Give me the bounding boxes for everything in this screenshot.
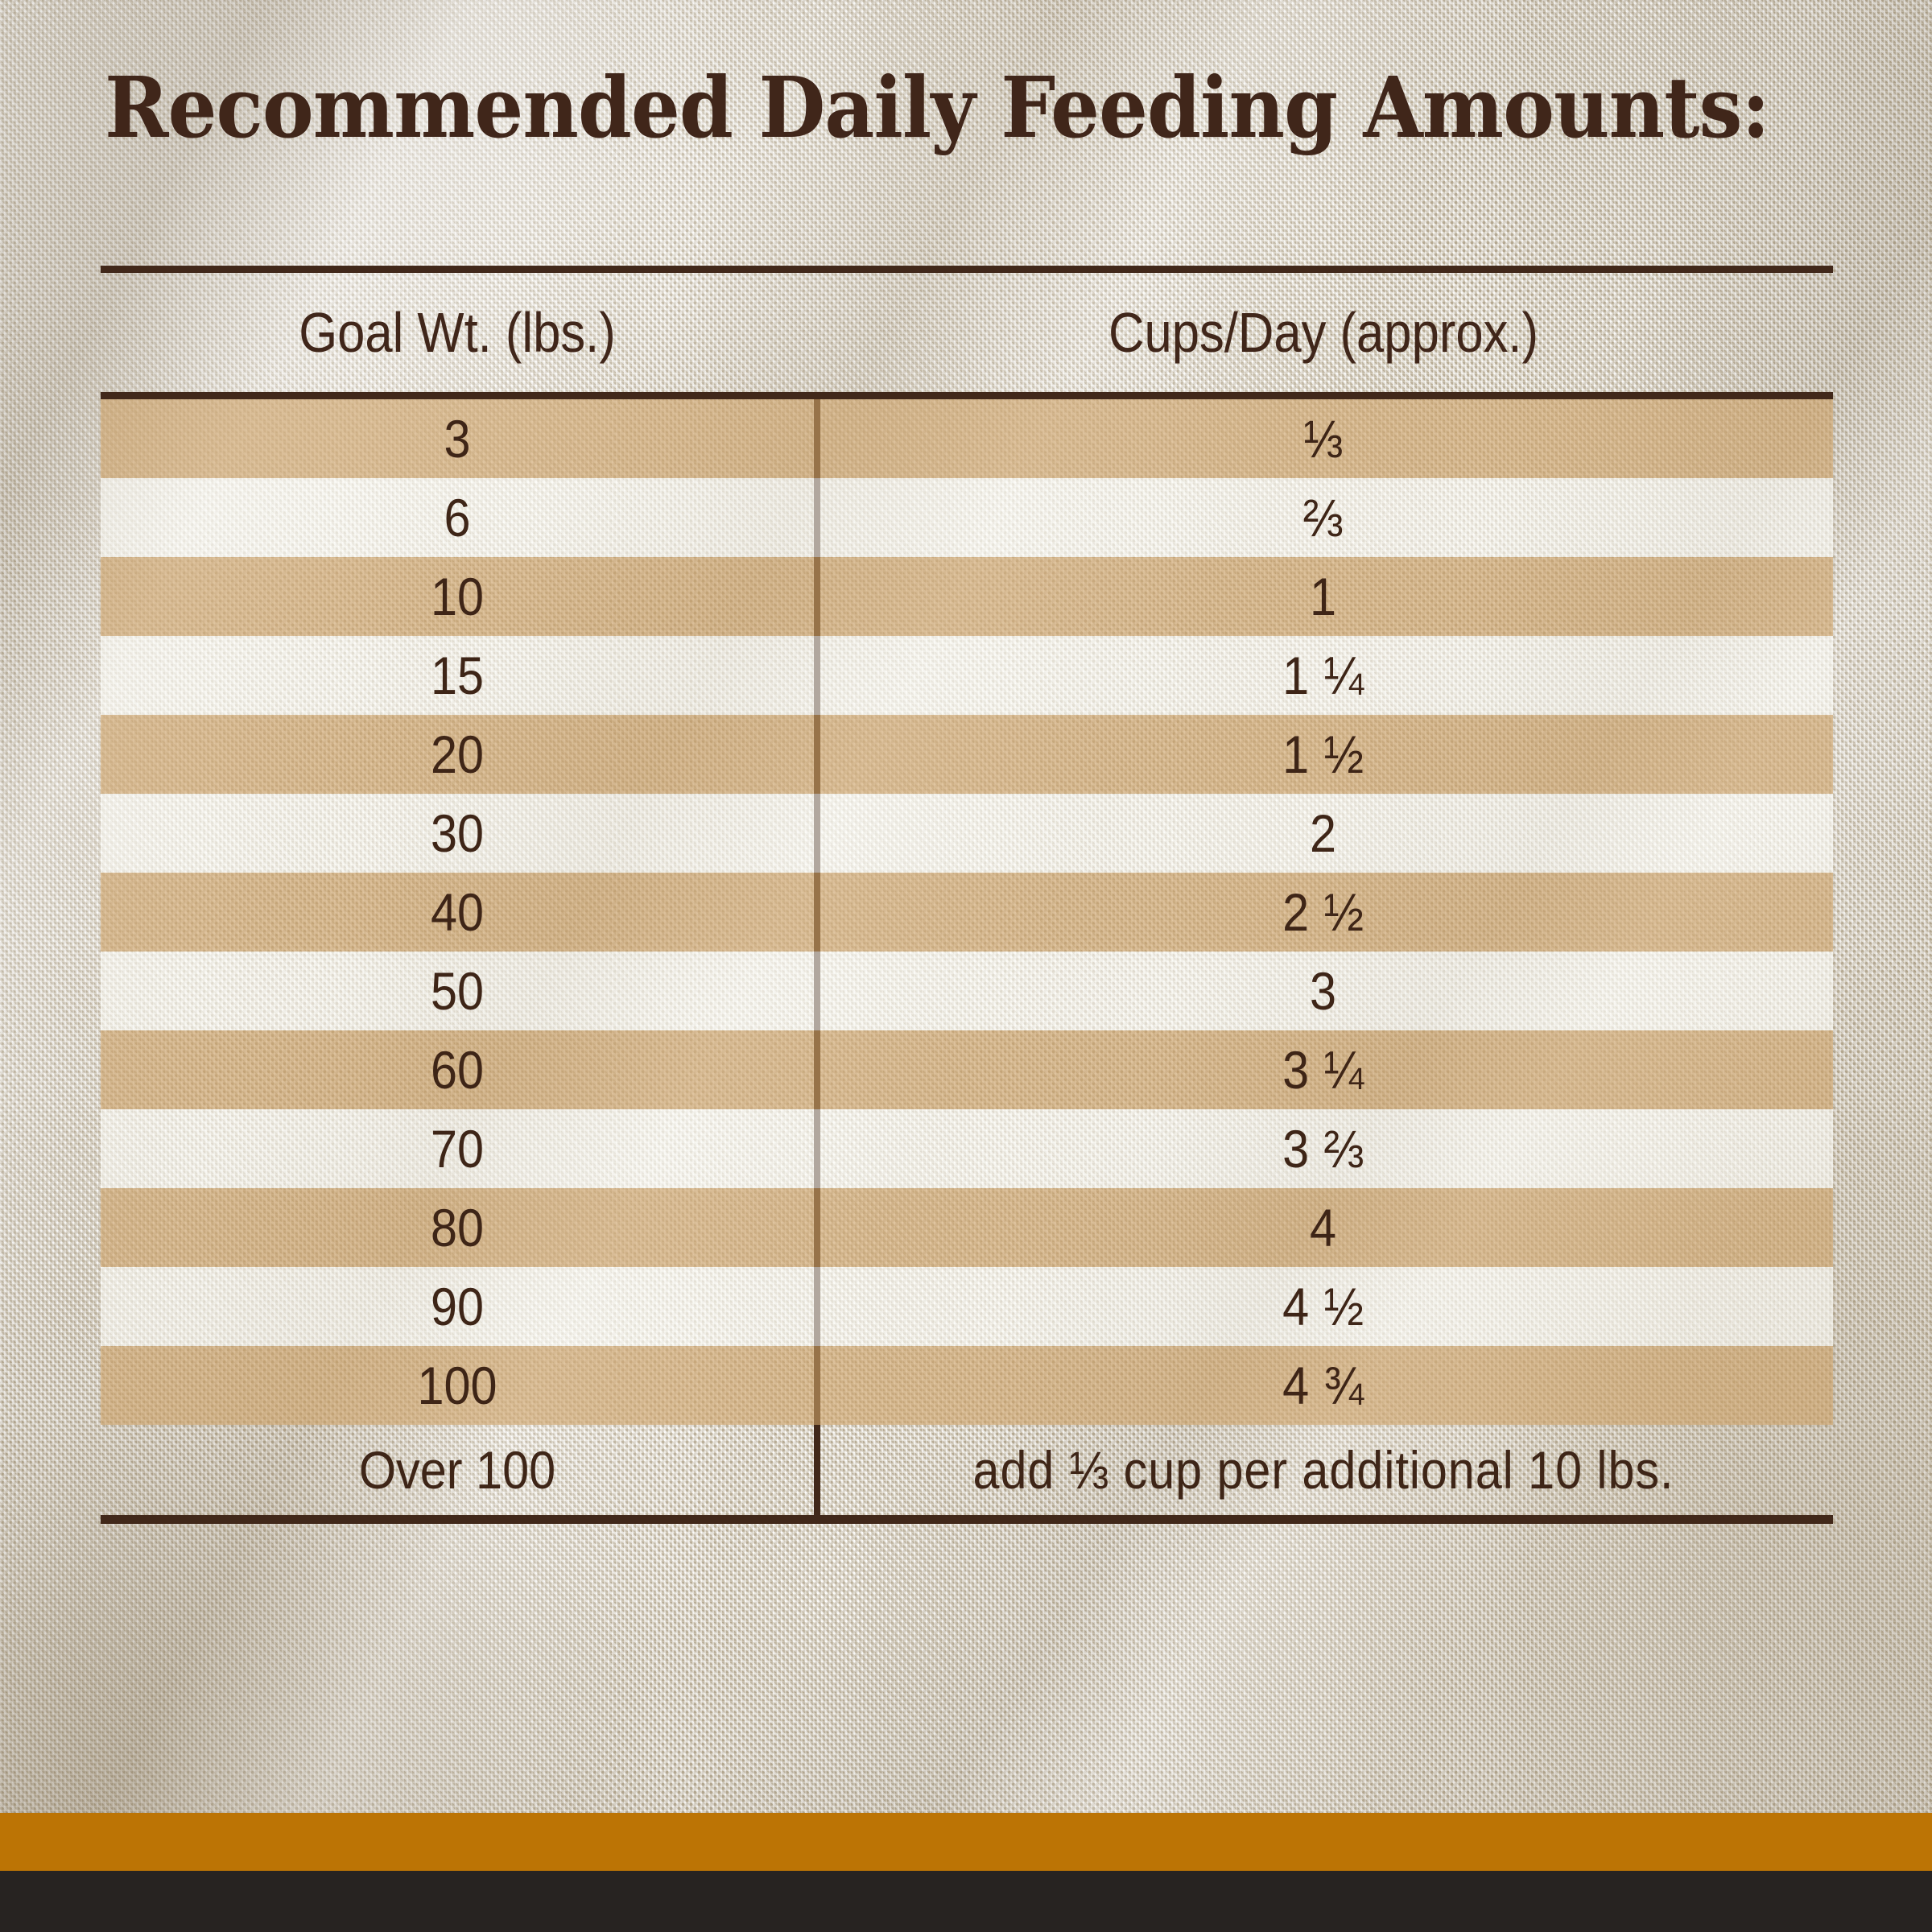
table-row: 503	[101, 952, 1833, 1030]
table-row: 101	[101, 557, 1833, 636]
table-body: 3⅓6⅔101151 ¼201 ½302402 ½503603 ¼703 ⅔80…	[101, 399, 1833, 1515]
cell-cups-per-day: 1 ¼	[865, 636, 1781, 715]
feeding-chart-canvas: Recommended Daily Feeding Amounts: Goal …	[0, 0, 1932, 1932]
cell-cups-per-day: 4	[865, 1188, 1781, 1267]
cell-cups-per-day: 2	[865, 794, 1781, 873]
table-row: 6⅔	[101, 478, 1833, 557]
table-top-rule	[101, 266, 1833, 273]
footer-bar-dark	[0, 1871, 1932, 1932]
table-row: Over 100add ⅓ cup per additional 10 lbs.	[101, 1425, 1833, 1515]
cell-goal-weight: 80	[136, 1188, 778, 1267]
table-row: 3⅓	[101, 399, 1833, 478]
cell-goal-weight: 90	[136, 1267, 778, 1346]
cell-goal-weight: 15	[136, 636, 778, 715]
cell-goal-weight: Over 100	[136, 1425, 778, 1515]
cell-goal-weight: 30	[136, 794, 778, 873]
cell-cups-per-day: ⅔	[865, 478, 1781, 557]
table-row: 201 ½	[101, 715, 1833, 794]
cell-goal-weight: 60	[136, 1030, 778, 1109]
cell-cups-per-day: 4 ½	[865, 1267, 1781, 1346]
cell-goal-weight: 40	[136, 873, 778, 952]
table-row: 402 ½	[101, 873, 1833, 952]
table-header-row: Goal Wt. (lbs.) Cups/Day (approx.)	[101, 273, 1833, 392]
column-header-cups-per-day: Cups/Day (approx.)	[875, 273, 1772, 392]
cell-goal-weight: 20	[136, 715, 778, 794]
cell-cups-per-day: add ⅓ cup per additional 10 lbs.	[865, 1425, 1781, 1515]
table-row: 302	[101, 794, 1833, 873]
page-title: Recommended Daily Feeding Amounts:	[105, 63, 1697, 153]
table-row: 151 ¼	[101, 636, 1833, 715]
table-row: 904 ½	[101, 1267, 1833, 1346]
cell-goal-weight: 100	[136, 1346, 778, 1425]
table-row: 1004 ¾	[101, 1346, 1833, 1425]
cell-cups-per-day: 3 ¼	[865, 1030, 1781, 1109]
cell-goal-weight: 6	[136, 478, 778, 557]
table-row: 603 ¼	[101, 1030, 1833, 1109]
table-row: 703 ⅔	[101, 1109, 1833, 1188]
table-row: 804	[101, 1188, 1833, 1267]
cell-goal-weight: 10	[136, 557, 778, 636]
cell-goal-weight: 50	[136, 952, 778, 1030]
table-header-rule	[101, 392, 1833, 399]
cell-goal-weight: 3	[136, 399, 778, 478]
cell-cups-per-day: 2 ½	[865, 873, 1781, 952]
feeding-table: Goal Wt. (lbs.) Cups/Day (approx.) 3⅓6⅔1…	[101, 266, 1833, 1524]
cell-cups-per-day: 3	[865, 952, 1781, 1030]
cell-cups-per-day: 4 ¾	[865, 1346, 1781, 1425]
column-header-goal-weight: Goal Wt. (lbs.)	[143, 273, 771, 392]
cell-cups-per-day: 1 ½	[865, 715, 1781, 794]
cell-cups-per-day: 1	[865, 557, 1781, 636]
cell-goal-weight: 70	[136, 1109, 778, 1188]
footer-accent-bar-orange	[0, 1813, 1932, 1871]
cell-cups-per-day: 3 ⅔	[865, 1109, 1781, 1188]
cell-cups-per-day: ⅓	[865, 399, 1781, 478]
table-bottom-rule	[101, 1515, 1833, 1524]
